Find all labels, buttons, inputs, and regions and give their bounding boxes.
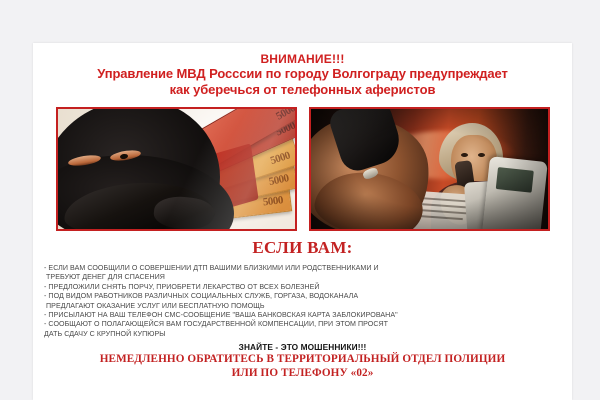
header-subtitle-line: как уберечься от телефонных аферистов — [33, 82, 572, 98]
list-item: - СООБЩАЮТ О ПОЛАГАЮЩЕЙСЯ ВАМ ГОСУДАРСТВ… — [44, 320, 563, 339]
header-authority-line: Управление МВД Росссии по городу Волгогр… — [33, 66, 572, 82]
photo-vignette — [311, 109, 548, 229]
photo-highlight — [58, 109, 295, 229]
photo-elderly-woman-on-telephone — [309, 107, 550, 231]
header-attention-line: ВНИМАНИЕ!!! — [33, 52, 572, 66]
poster-header: ВНИМАНИЕ!!! Управление МВД Росссии по го… — [33, 43, 572, 98]
footer-action-line-2: ИЛИ ПО ТЕЛЕФОНУ «02» — [33, 367, 572, 381]
photo-masked-robber-with-banknotes: 5000 5000 5000 5000 5000 — [56, 107, 297, 231]
section-title-if-you: ЕСЛИ ВАМ: — [33, 238, 572, 258]
list-item: - ЕСЛИ ВАМ СООБЩИЛИ О СОВЕРШЕНИИ ДТП ВАШ… — [44, 264, 563, 283]
photo-row: 5000 5000 5000 5000 5000 — [33, 107, 572, 231]
poster-footer: ЗНАЙТЕ - ЭТО МОШЕННИКИ!!! НЕМЕДЛЕННО ОБР… — [33, 342, 572, 380]
scam-scenarios-list: - ЕСЛИ ВАМ СООБЩИЛИ О СОВЕРШЕНИИ ДТП ВАШ… — [33, 264, 572, 339]
poster-page: ВНИМАНИЕ!!! Управление МВД Росссии по го… — [33, 43, 572, 400]
list-item: - ПРЕДЛОЖИЛИ СНЯТЬ ПОРЧУ, ПРИОБРЕТИ ЛЕКА… — [44, 283, 563, 292]
footer-action-line-1: НЕМЕДЛЕННО ОБРАТИТЕСЬ В ТЕРРИТОРИАЛЬНЫЙ … — [33, 353, 572, 367]
footer-warning-text: ЗНАЙТЕ - ЭТО МОШЕННИКИ!!! — [33, 342, 572, 353]
list-item: - ПОД ВИДОМ РАБОТНИКОВ РАЗЛИЧНЫХ СОЦИАЛЬ… — [44, 292, 563, 311]
